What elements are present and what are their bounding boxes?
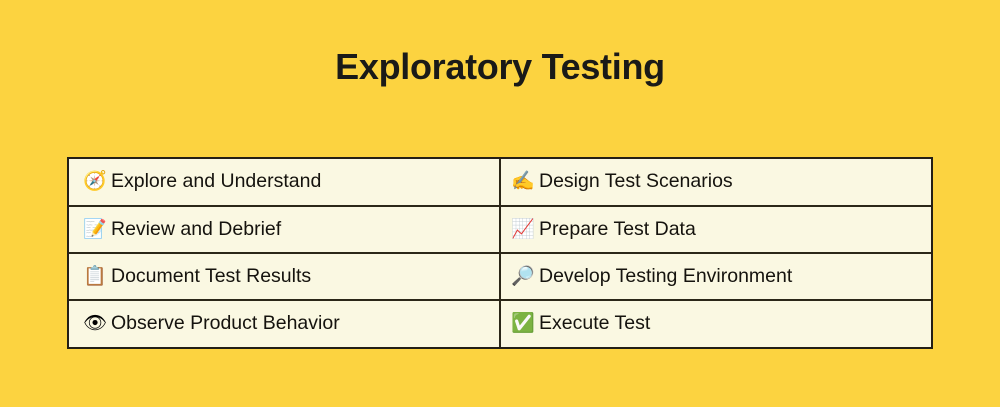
compass-icon: 🧭: [83, 172, 105, 191]
activity-cell-develop-testing-environment[interactable]: 🔎 Develop Testing Environment: [500, 253, 931, 300]
activities-grid: 🧭 Explore and Understand ✍️ Design Test …: [69, 159, 931, 347]
eye-icon: 👁: [83, 314, 105, 333]
writing-hand-icon: ✍️: [511, 172, 533, 191]
table-row: 📝 Review and Debrief 📈 Prepare Test Data: [69, 206, 931, 253]
activity-cell-explore-and-understand[interactable]: 🧭 Explore and Understand: [69, 159, 500, 206]
activity-label: Review and Debrief: [111, 218, 281, 241]
table-row: 📋 Document Test Results 🔎 Develop Testin…: [69, 253, 931, 300]
table-row: 👁 Observe Product Behavior ✅ Execute Tes…: [69, 300, 931, 347]
activity-cell-prepare-test-data[interactable]: 📈 Prepare Test Data: [500, 206, 931, 253]
activity-cell-design-test-scenarios[interactable]: ✍️ Design Test Scenarios: [500, 159, 931, 206]
activity-label: Document Test Results: [111, 265, 311, 288]
activity-label: Observe Product Behavior: [111, 312, 340, 335]
activity-cell-document-test-results[interactable]: 📋 Document Test Results: [69, 253, 500, 300]
activity-cell-observe-product-behavior[interactable]: 👁 Observe Product Behavior: [69, 300, 500, 347]
page-title: Exploratory Testing: [0, 44, 1000, 89]
activities-table: 🧭 Explore and Understand ✍️ Design Test …: [67, 157, 933, 349]
activity-label: Execute Test: [539, 312, 650, 335]
activity-label: Prepare Test Data: [539, 218, 696, 241]
memo-icon: 📝: [83, 220, 105, 239]
activity-label: Explore and Understand: [111, 170, 321, 193]
table-row: 🧭 Explore and Understand ✍️ Design Test …: [69, 159, 931, 206]
activity-label: Design Test Scenarios: [539, 170, 733, 193]
check-mark-button-icon: ✅: [511, 314, 533, 333]
magnifying-glass-icon: 🔎: [511, 267, 533, 286]
chart-increasing-icon: 📈: [511, 220, 533, 239]
clipboard-icon: 📋: [83, 267, 105, 286]
activity-label: Develop Testing Environment: [539, 265, 792, 288]
poster-root: Exploratory Testing 🧭 Explore and Unders…: [0, 0, 1000, 407]
activity-cell-execute-test[interactable]: ✅ Execute Test: [500, 300, 931, 347]
activity-cell-review-and-debrief[interactable]: 📝 Review and Debrief: [69, 206, 500, 253]
